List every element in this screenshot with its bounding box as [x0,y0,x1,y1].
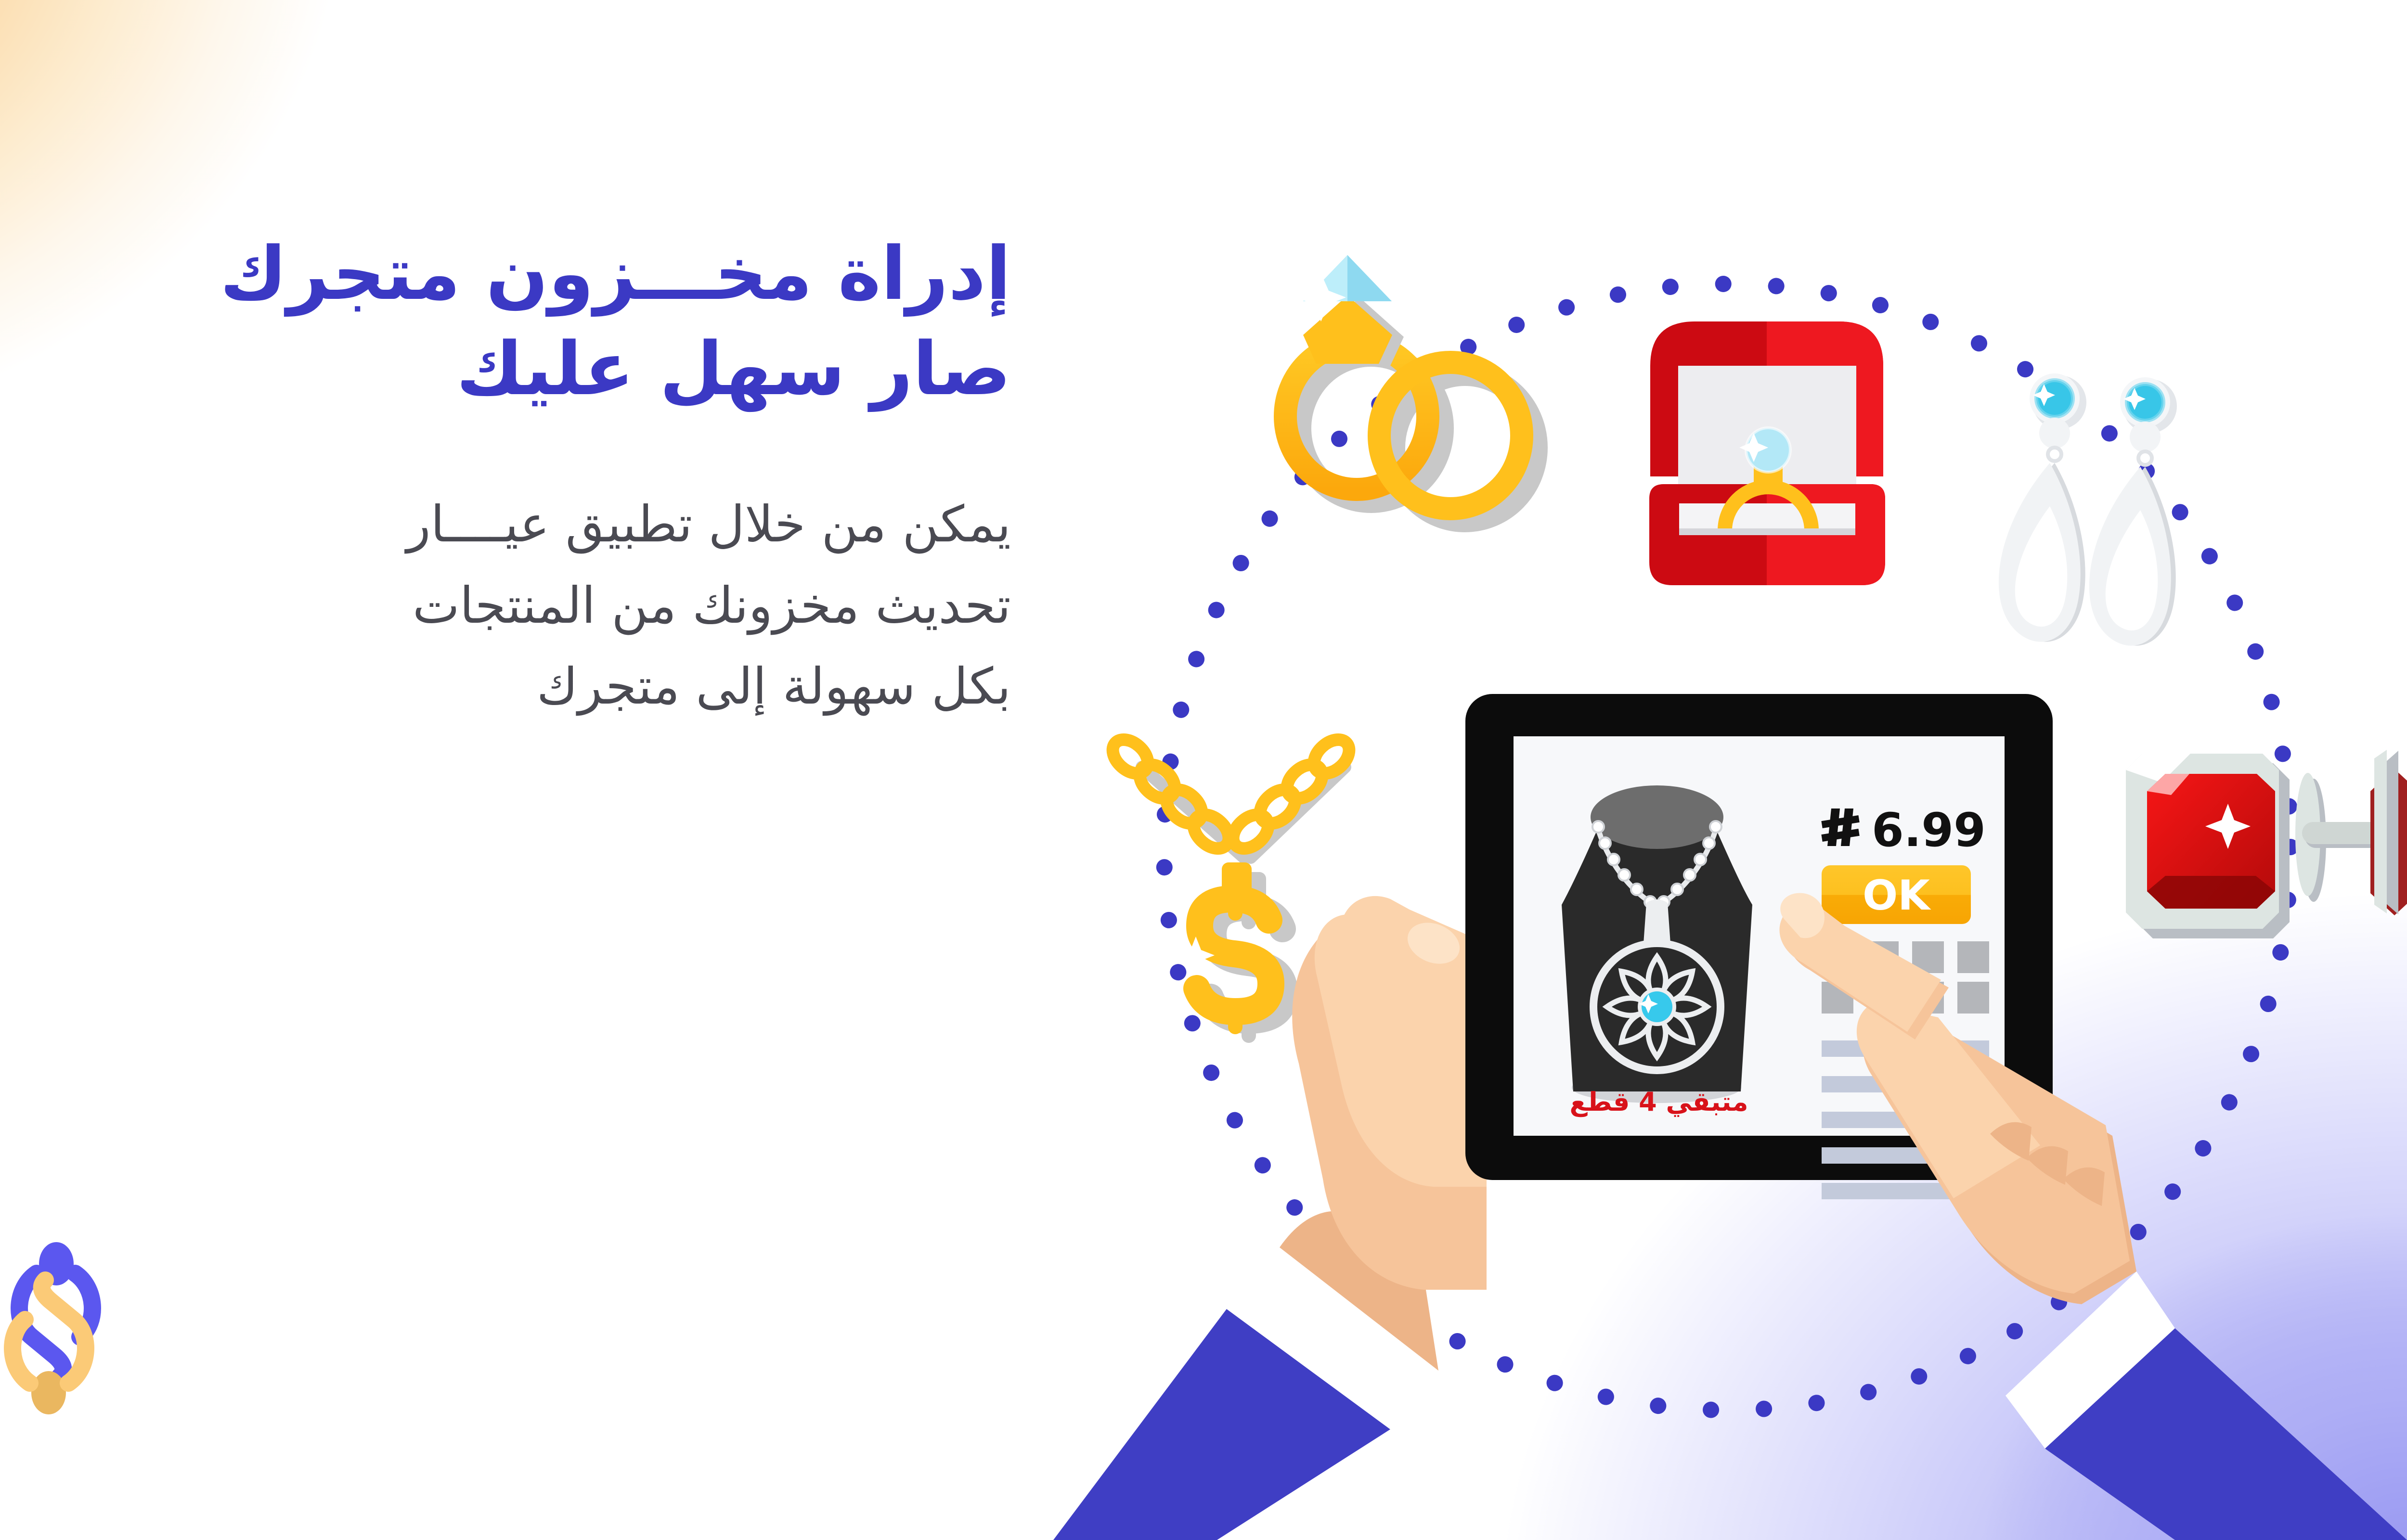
page-title: إدراة مخـــزون متجرك صار سهل عليك [0,226,1011,416]
logo-mark-icon [0,1242,105,1415]
ok-button-label: OK [1863,872,1931,920]
poster-canvas: إدراة مخـــزون متجرك صار سهل عليك يمكن م… [0,0,2407,1540]
jewelry-illustration: متبقي 4 قطع 6.99 OK [1053,96,2407,1540]
ruby-cufflinks-icon [2126,750,2407,938]
diamond-rings-icon [1285,255,1536,521]
right-hand-pointing [1779,893,2407,1540]
ring-box-icon [1649,321,1885,585]
stock-label: متبقي 4 قطع [1569,1087,1748,1117]
drop-earrings-icon [1999,373,2177,646]
ok-button: OK [1822,865,1971,924]
price-amount: 6.99 [1872,803,1986,857]
brand-logo[interactable]: عيــار EIAR [0,1242,110,1434]
page-subtitle: يمكن من خلال تطبيق عيــــار تحديث مخزونك… [0,484,1011,727]
copy-block: إدراة مخـــزون متجرك صار سهل عليك يمكن م… [0,226,1011,727]
